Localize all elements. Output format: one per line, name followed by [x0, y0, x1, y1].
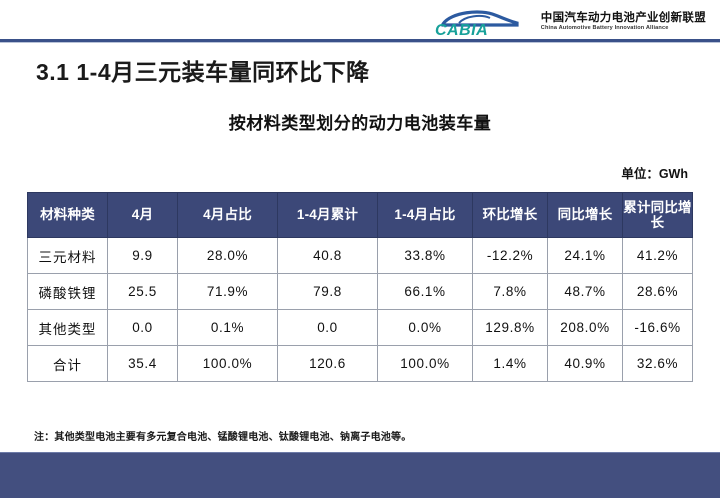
- table-footnote: 注：其他类型电池主要有多元复合电池、锰酸锂电池、钛酸锂电池、钠离子电池等。: [34, 428, 411, 443]
- data-table-container: 材料种类 4月 4月占比 1-4月累计 1-4月占比 环比增长 同比增长 累计同…: [27, 192, 692, 382]
- cell-april-share: 28.0%: [178, 238, 278, 274]
- cell-mom-growth: 129.8%: [473, 310, 548, 346]
- cell-yoy-growth: 40.9%: [548, 346, 623, 382]
- brand-header: CABIA 中国汽车动力电池产业创新联盟 China Automotive Ba…: [429, 6, 706, 38]
- svg-text:CABIA: CABIA: [435, 22, 488, 37]
- cell-cumulative-share: 33.8%: [378, 238, 473, 274]
- cell-april: 0.0: [108, 310, 178, 346]
- cell-material: 三元材料: [28, 238, 108, 274]
- cell-mom-growth: 7.8%: [473, 274, 548, 310]
- brand-name-block: 中国汽车动力电池产业创新联盟 China Automotive Battery …: [541, 12, 706, 32]
- table-row: 磷酸铁锂 25.5 71.9% 79.8 66.1% 7.8% 48.7% 28…: [28, 274, 693, 310]
- cell-yoy-growth: 48.7%: [548, 274, 623, 310]
- brand-name-cn: 中国汽车动力电池产业创新联盟: [541, 12, 706, 24]
- cell-mom-growth: 1.4%: [473, 346, 548, 382]
- cell-yoy-growth: 24.1%: [548, 238, 623, 274]
- cell-mom-growth: -12.2%: [473, 238, 548, 274]
- column-header-april-share: 4月占比: [178, 193, 278, 238]
- cell-april: 35.4: [108, 346, 178, 382]
- unit-label: 单位：GWh: [621, 163, 688, 182]
- table-header-row: 材料种类 4月 4月占比 1-4月累计 1-4月占比 环比增长 同比增长 累计同…: [28, 193, 693, 238]
- cell-cumulative-yoy: -16.6%: [623, 310, 693, 346]
- cell-cumulative: 79.8: [278, 274, 378, 310]
- column-header-cumulative: 1-4月累计: [278, 193, 378, 238]
- table-row: 合计 35.4 100.0% 120.6 100.0% 1.4% 40.9% 3…: [28, 346, 693, 382]
- cell-cumulative-yoy: 32.6%: [623, 346, 693, 382]
- column-header-cumulative-yoy: 累计同比增长: [623, 193, 693, 238]
- cell-cumulative-share: 66.1%: [378, 274, 473, 310]
- column-header-material: 材料种类: [28, 193, 108, 238]
- cell-cumulative-yoy: 28.6%: [623, 274, 693, 310]
- column-header-cumulative-share: 1-4月占比: [378, 193, 473, 238]
- column-header-mom-growth: 环比增长: [473, 193, 548, 238]
- footer-bar: [0, 453, 720, 498]
- cell-cumulative-share: 100.0%: [378, 346, 473, 382]
- table-row: 三元材料 9.9 28.0% 40.8 33.8% -12.2% 24.1% 4…: [28, 238, 693, 274]
- cell-april: 9.9: [108, 238, 178, 274]
- cell-april-share: 100.0%: [178, 346, 278, 382]
- cell-april-share: 71.9%: [178, 274, 278, 310]
- page-title: 3.1 1-4月三元装车量同环比下降: [36, 53, 370, 87]
- cell-material: 磷酸铁锂: [28, 274, 108, 310]
- cabia-car-logo-icon: CABIA: [429, 7, 533, 37]
- cell-material: 合计: [28, 346, 108, 382]
- battery-installation-table: 材料种类 4月 4月占比 1-4月累计 1-4月占比 环比增长 同比增长 累计同…: [27, 192, 693, 382]
- cell-april: 25.5: [108, 274, 178, 310]
- cell-cumulative-yoy: 41.2%: [623, 238, 693, 274]
- cell-cumulative: 40.8: [278, 238, 378, 274]
- column-header-yoy-growth: 同比增长: [548, 193, 623, 238]
- cell-yoy-growth: 208.0%: [548, 310, 623, 346]
- chart-subtitle: 按材料类型划分的动力电池装车量: [0, 109, 720, 134]
- cell-cumulative: 120.6: [278, 346, 378, 382]
- table-row: 其他类型 0.0 0.1% 0.0 0.0% 129.8% 208.0% -16…: [28, 310, 693, 346]
- cell-april-share: 0.1%: [178, 310, 278, 346]
- header-divider-soft: [0, 42, 720, 43]
- cell-cumulative-share: 0.0%: [378, 310, 473, 346]
- brand-name-en: China Automotive Battery Innovation Alli…: [541, 26, 706, 32]
- cell-material: 其他类型: [28, 310, 108, 346]
- slide-root: CABIA 中国汽车动力电池产业创新联盟 China Automotive Ba…: [0, 0, 720, 498]
- cell-cumulative: 0.0: [278, 310, 378, 346]
- column-header-april: 4月: [108, 193, 178, 238]
